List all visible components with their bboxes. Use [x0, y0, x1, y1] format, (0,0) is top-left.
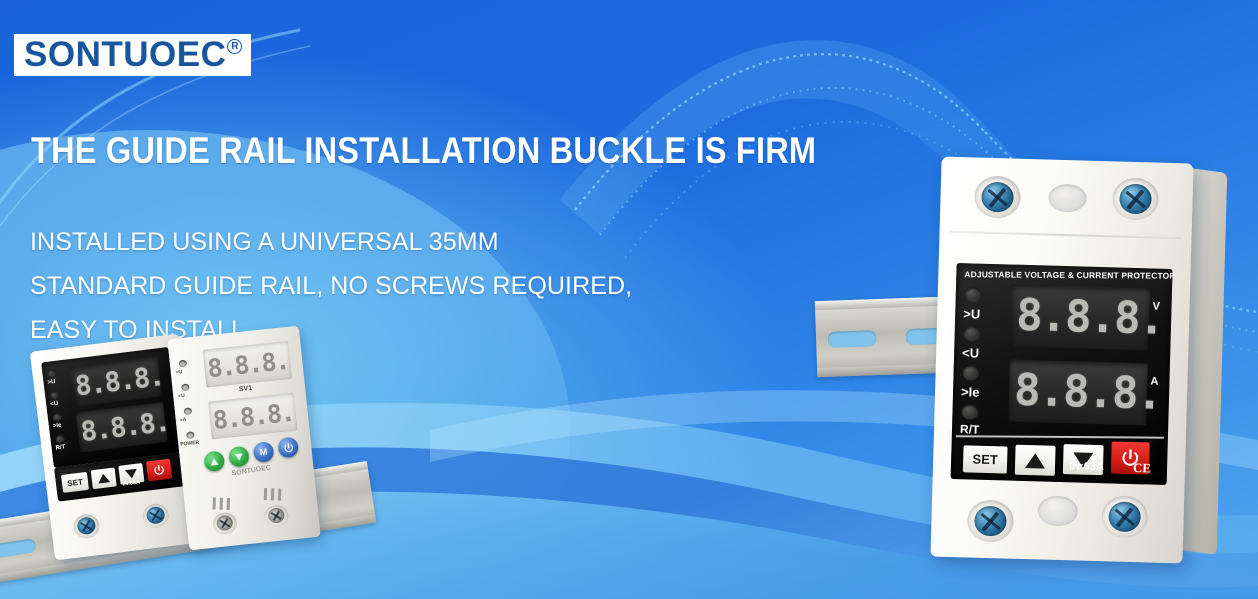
headline: THE GUIDE RAIL INSTALLATION BUCKLE IS FI…	[31, 130, 816, 172]
small-current-digits: 8.8.8.	[79, 408, 170, 446]
faceplate-divider	[956, 435, 1164, 438]
current-display: 8.8.8.	[1008, 360, 1148, 426]
vent-slot	[220, 498, 223, 510]
brand-logo: SONTUOEC R	[14, 34, 251, 76]
led-label-under-voltage: <U	[962, 345, 979, 360]
brand-logo-text: SONTUOEC	[24, 37, 226, 72]
power-round-button[interactable]	[277, 436, 299, 458]
led-under-voltage	[963, 326, 980, 341]
subcopy-line-1: INSTALLED USING A UNIVERSAL 35MM	[30, 220, 632, 264]
product-banner: SONTUOEC R THE GUIDE RAIL INSTALLATION B…	[0, 0, 1258, 599]
led-label-over-voltage: >U	[47, 379, 56, 386]
power-icon	[152, 463, 165, 476]
small-voltage-display: 8.8.8.	[70, 356, 162, 406]
led-over-current	[52, 413, 62, 422]
vent-slot	[227, 498, 230, 510]
led-reset-timer	[55, 434, 65, 443]
led-over-voltage	[47, 369, 57, 378]
triangle-down-icon	[235, 453, 244, 461]
led-label-reset-timer: R/T	[55, 444, 65, 451]
faceplate-title: ADJUSTABLE VOLTAGE & CURRENT PROTECTOR	[964, 269, 1175, 280]
rating-label: IN:63A	[1069, 461, 1104, 473]
small-rating-label: IN:63A	[122, 479, 140, 487]
up-round-button[interactable]	[203, 450, 225, 472]
small-faceplate: >U <U >Ie R/T 8.8.8. 8.8.8.	[41, 347, 181, 468]
registered-trademark-icon: R	[227, 39, 242, 54]
mode-round-button-label: M	[259, 447, 268, 458]
triangle-up-icon	[1025, 453, 1045, 469]
triangle-up-icon	[97, 473, 110, 483]
vent-slot	[264, 488, 267, 500]
sv1-led-label-2: <U	[178, 393, 185, 400]
led-under-voltage	[50, 391, 60, 400]
sv1-label: SV1	[239, 385, 253, 393]
sv1-digits-lower: 8.8.8.	[212, 399, 295, 432]
voltage-digits: 8.8.8.	[1016, 294, 1164, 342]
voltage-unit-label: V	[1152, 301, 1160, 313]
up-button[interactable]	[1015, 445, 1056, 476]
sv1-led-3	[184, 407, 193, 415]
vent-slot	[271, 488, 274, 500]
housing-vent-top	[1048, 184, 1087, 213]
sv1-power-label: POWER	[180, 440, 199, 448]
led-over-current	[962, 365, 979, 380]
rail-slot	[828, 330, 877, 348]
led-over-voltage	[965, 287, 982, 302]
adjustable-voltage-current-protector: ADJUSTABLE VOLTAGE & CURRENT PROTECTOR >…	[930, 160, 1230, 580]
device-housing: ADJUSTABLE VOLTAGE & CURRENT PROTECTOR >…	[930, 157, 1193, 564]
vent-slot	[278, 489, 281, 501]
control-faceplate: ADJUSTABLE VOLTAGE & CURRENT PROTECTOR >…	[951, 263, 1173, 485]
sv1-led-label-1: >U	[175, 369, 182, 376]
sv1-controller-unit: >U <U >A POWER 8.8.8. SV1 8.8.8.	[167, 326, 320, 551]
triangle-down-icon	[125, 469, 138, 479]
led-reset-timer	[961, 404, 978, 419]
housing-vent-bottom	[1037, 495, 1078, 526]
sv1-digits-upper: 8.8.8.	[206, 348, 289, 381]
small-up-button[interactable]	[91, 467, 117, 489]
subcopy-line-2: STANDARD GUIDE RAIL, NO SCREWS REQUIRED,	[30, 264, 632, 308]
vent-slot	[212, 497, 215, 509]
sv1-led-1	[179, 360, 188, 368]
voltage-display: 8.8.8.	[1010, 285, 1150, 351]
sv1-power-led	[186, 431, 195, 439]
power-icon	[282, 441, 294, 453]
ce-mark: CE	[1133, 460, 1152, 476]
housing-seam	[950, 231, 1182, 239]
led-label-over-current: >Ie	[53, 423, 62, 430]
down-round-button[interactable]	[228, 446, 250, 468]
current-unit-label: A	[1150, 375, 1158, 387]
sv1-led-2	[181, 383, 190, 391]
current-digits: 8.8.8.	[1014, 369, 1162, 417]
left-device-group: >U <U >Ie R/T 8.8.8. 8.8.8. SET	[28, 336, 388, 599]
sv1-display-lower: 8.8.8.	[208, 393, 298, 440]
triangle-up-icon	[210, 457, 219, 465]
led-label-under-voltage: <U	[50, 401, 59, 408]
sv1-led-label-3: >A	[180, 417, 187, 424]
sv1-display-upper: 8.8.8.	[203, 341, 293, 388]
subcopy: INSTALLED USING A UNIVERSAL 35MM STANDAR…	[30, 220, 632, 352]
small-current-display: 8.8.8.	[76, 402, 168, 452]
set-button[interactable]: SET	[963, 445, 1008, 473]
small-set-label: SET	[67, 477, 84, 488]
led-label-over-current: >Ie	[961, 384, 980, 400]
mode-round-button[interactable]: M	[253, 441, 275, 463]
set-button-label: SET	[972, 452, 998, 468]
small-set-button[interactable]: SET	[61, 472, 89, 493]
small-voltage-digits: 8.8.8.	[74, 362, 165, 400]
led-label-over-voltage: >U	[963, 306, 980, 321]
small-power-button[interactable]	[146, 459, 172, 482]
